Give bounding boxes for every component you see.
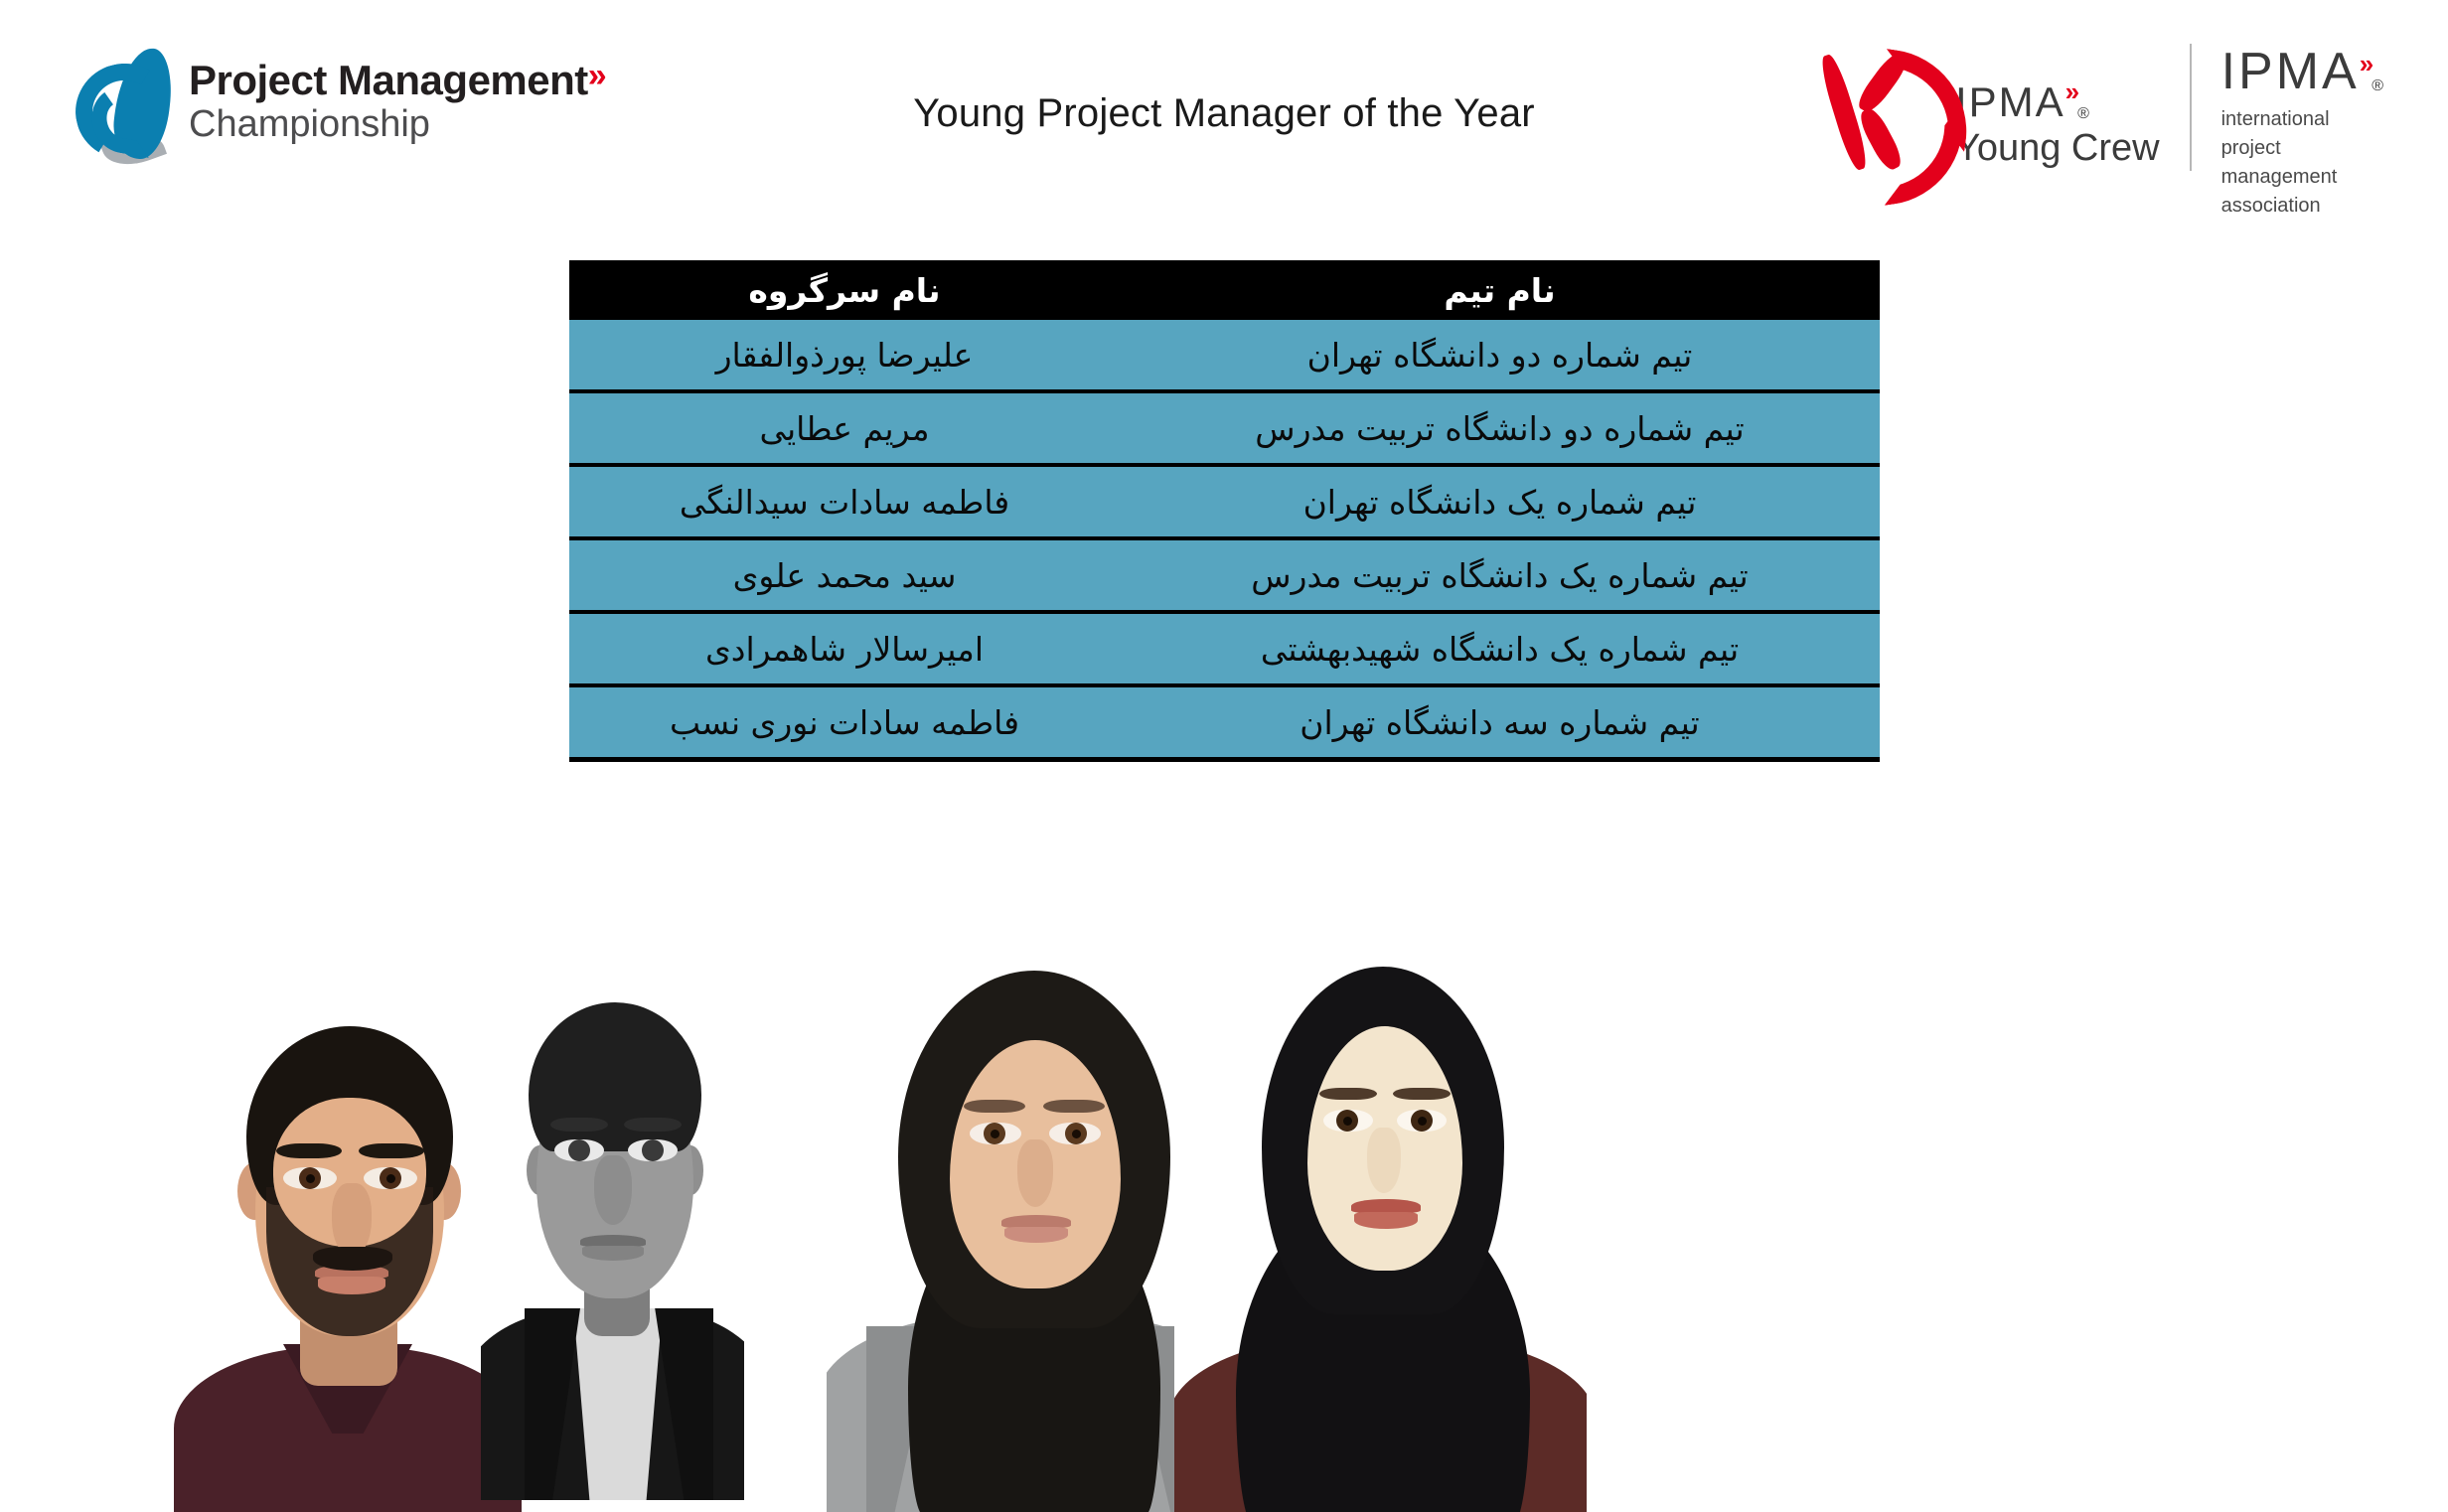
portrait-4-pupil-right bbox=[1418, 1117, 1427, 1126]
portrait-1-brow-left bbox=[276, 1143, 342, 1158]
teams-table: نام تیم نام سرگروه تیم شماره دو دانشگاه … bbox=[569, 260, 1880, 762]
ipma-chevron-icon: » bbox=[2360, 49, 2371, 78]
young-crew-ipma-text: IPMA bbox=[1955, 78, 2065, 125]
young-crew-registered-icon: ® bbox=[2077, 105, 2091, 122]
pmc-chevron-icon: » bbox=[588, 57, 603, 94]
portrait-4-lower-lip bbox=[1354, 1212, 1418, 1229]
portrait-2-brow-left bbox=[550, 1118, 608, 1132]
young-crew-wordmark: IPMA»® Young Crew bbox=[1955, 45, 2160, 171]
table-body: تیم شماره دو دانشگاه تهران علیرضا پورذوا… bbox=[569, 320, 1880, 760]
portrait-3-lower-lip bbox=[1004, 1227, 1068, 1243]
cell-team-name: تیم شماره سه دانشگاه تهران bbox=[1120, 685, 1880, 760]
table-row: تیم شماره یک دانشگاه شهیدبهشتی امیرسالار… bbox=[569, 612, 1880, 685]
young-crew-subtitle: Young Crew bbox=[1955, 127, 2160, 171]
portrait-1-brow-right bbox=[359, 1143, 424, 1158]
portrait-1-moustache bbox=[313, 1247, 392, 1271]
portrait-4 bbox=[1174, 949, 1587, 1512]
cell-leader-name: مریم عطایی bbox=[569, 391, 1120, 465]
portrait-photo-row bbox=[0, 949, 2448, 1512]
portrait-2-lower-lip bbox=[582, 1246, 644, 1261]
portrait-3-pupil-left bbox=[991, 1130, 999, 1138]
ipma-logo-group: IPMA»® Young Crew IPMA»® international p… bbox=[1824, 38, 2386, 177]
portrait-4-upper-lip bbox=[1351, 1199, 1421, 1213]
cell-team-name: تیم شماره یک دانشگاه شهیدبهشتی bbox=[1120, 612, 1880, 685]
cell-leader-name: علیرضا پورذوالفقار bbox=[569, 320, 1120, 391]
young-crew-x-icon bbox=[1824, 45, 1941, 170]
cell-leader-name: سید محمد علوی bbox=[569, 538, 1120, 612]
cell-team-name: تیم شماره یک دانشگاه تهران bbox=[1120, 465, 1880, 538]
table-header-row: نام تیم نام سرگروه bbox=[569, 260, 1880, 320]
ipma-association-logo: IPMA»® international project management … bbox=[2221, 38, 2386, 221]
cell-leader-name: فاطمه سادات سیدالنگی bbox=[569, 465, 1120, 538]
young-crew-chevron-icon: » bbox=[2065, 76, 2077, 106]
table-row: تیم شماره یک دانشگاه تهران فاطمه سادات س… bbox=[569, 465, 1880, 538]
table-row: تیم شماره دو دانشگاه تربیت مدرس مریم عطا… bbox=[569, 391, 1880, 465]
portrait-1-pupil-right bbox=[386, 1174, 395, 1183]
cell-team-name: تیم شماره یک دانشگاه تربیت مدرس bbox=[1120, 538, 1880, 612]
young-crew-ipma-word: IPMA»® bbox=[1955, 78, 2160, 123]
cell-team-name: تیم شماره دو دانشگاه تربیت مدرس bbox=[1120, 391, 1880, 465]
column-header-leader-name: نام سرگروه bbox=[569, 260, 1120, 320]
portrait-2-iris-right bbox=[642, 1139, 664, 1161]
column-header-team-name: نام تیم bbox=[1120, 260, 1880, 320]
portrait-1-lower-lip bbox=[318, 1277, 385, 1294]
portrait-2 bbox=[481, 959, 744, 1500]
table-row: تیم شماره یک دانشگاه تربیت مدرس سید محمد… bbox=[569, 538, 1880, 612]
ipma-wordmark-text: IPMA bbox=[2221, 43, 2360, 100]
ipma-word: IPMA»® bbox=[2221, 46, 2386, 97]
portrait-4-brow-left bbox=[1319, 1088, 1377, 1100]
cell-leader-name: امیرسالار شاهمرادی bbox=[569, 612, 1120, 685]
ipma-young-crew-logo: IPMA»® Young Crew bbox=[1824, 38, 2190, 177]
portrait-2-nose bbox=[594, 1155, 632, 1225]
logo-divider bbox=[2190, 44, 2192, 171]
table-row: تیم شماره دو دانشگاه تهران علیرضا پورذوا… bbox=[569, 320, 1880, 391]
slide-header: Project Management» Championship Young P… bbox=[0, 0, 2448, 238]
cell-team-name: تیم شماره دو دانشگاه تهران bbox=[1120, 320, 1880, 391]
portrait-4-nose bbox=[1367, 1128, 1401, 1193]
table-row: تیم شماره سه دانشگاه تهران فاطمه سادات ن… bbox=[569, 685, 1880, 760]
portrait-3-brow-left bbox=[964, 1100, 1025, 1113]
portrait-4-pupil-left bbox=[1343, 1117, 1352, 1126]
portrait-3-nose bbox=[1017, 1139, 1053, 1207]
portrait-1-pupil-left bbox=[306, 1174, 315, 1183]
ipma-registered-icon: ® bbox=[2371, 77, 2386, 94]
portrait-3-brow-right bbox=[1043, 1100, 1105, 1113]
ipma-tagline: international project management associa… bbox=[2221, 105, 2386, 221]
portrait-4-brow-right bbox=[1393, 1088, 1451, 1100]
portrait-3-pupil-right bbox=[1072, 1130, 1081, 1138]
portrait-1-nose bbox=[332, 1183, 372, 1257]
portrait-2-iris-left bbox=[568, 1139, 590, 1161]
cell-leader-name: فاطمه سادات نوری نسب bbox=[569, 685, 1120, 760]
portrait-2-brow-right bbox=[624, 1118, 682, 1132]
